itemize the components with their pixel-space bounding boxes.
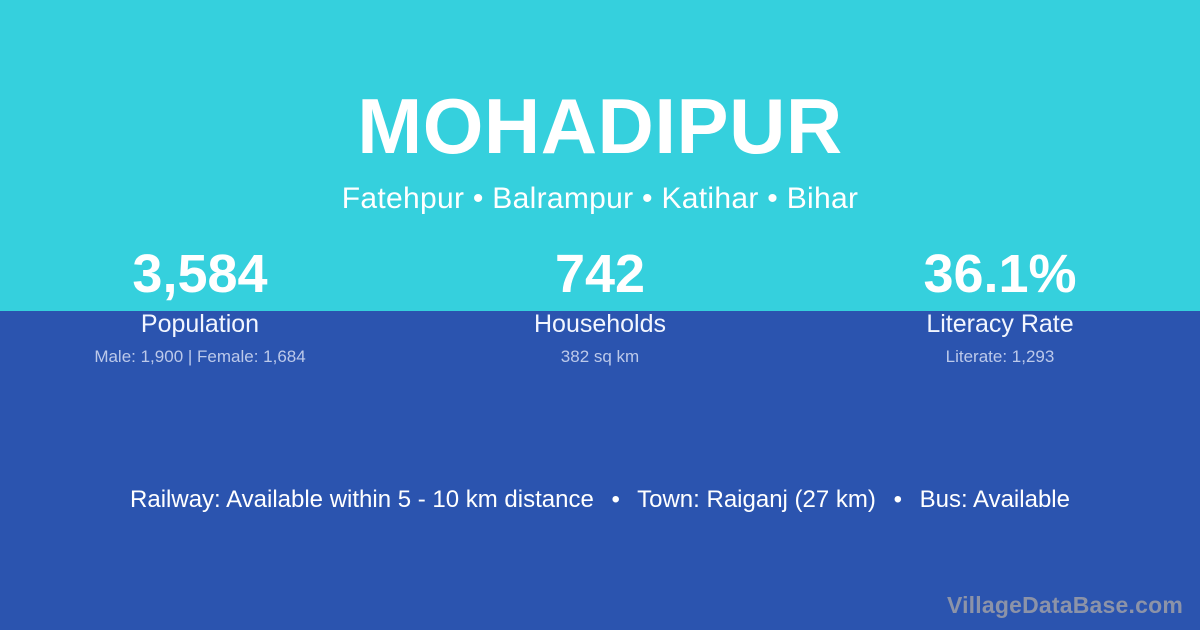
facility-separator-2: • [883, 486, 913, 515]
facilities-line: Railway: Available within 5 - 10 km dist… [0, 486, 1200, 515]
stat-households: 742 Households 382 sq km [400, 246, 800, 367]
stat-label-literacy-rate: Literacy Rate [800, 311, 1200, 339]
page-title: MOHADIPUR [0, 87, 1200, 165]
village-info-card: MOHADIPUR Fatehpur • Balrampur • Katihar… [0, 0, 1200, 630]
stat-sub-population: Male: 1,900 | Female: 1,684 [0, 348, 400, 367]
stat-label-population: Population [0, 311, 400, 339]
facility-railway: Railway: Available within 5 - 10 km dist… [130, 486, 594, 513]
stats-row: 3,584 Population Male: 1,900 | Female: 1… [0, 246, 1200, 367]
stat-value-literacy-rate: 36.1% [800, 246, 1200, 303]
site-branding: VillageDataBase.com [947, 592, 1183, 620]
facility-separator-1: • [600, 486, 630, 515]
stat-literacy-rate: 36.1% Literacy Rate Literate: 1,293 [800, 246, 1200, 367]
stat-value-households: 742 [400, 246, 800, 303]
stat-sub-households: 382 sq km [400, 348, 800, 367]
stat-sub-literacy-rate: Literate: 1,293 [800, 348, 1200, 367]
stat-population: 3,584 Population Male: 1,900 | Female: 1… [0, 246, 400, 367]
stat-label-households: Households [400, 311, 800, 339]
breadcrumb: Fatehpur • Balrampur • Katihar • Bihar [0, 182, 1200, 215]
facility-town: Town: Raiganj (27 km) [637, 486, 876, 513]
stat-value-population: 3,584 [0, 246, 400, 303]
facility-bus: Bus: Available [920, 486, 1070, 513]
